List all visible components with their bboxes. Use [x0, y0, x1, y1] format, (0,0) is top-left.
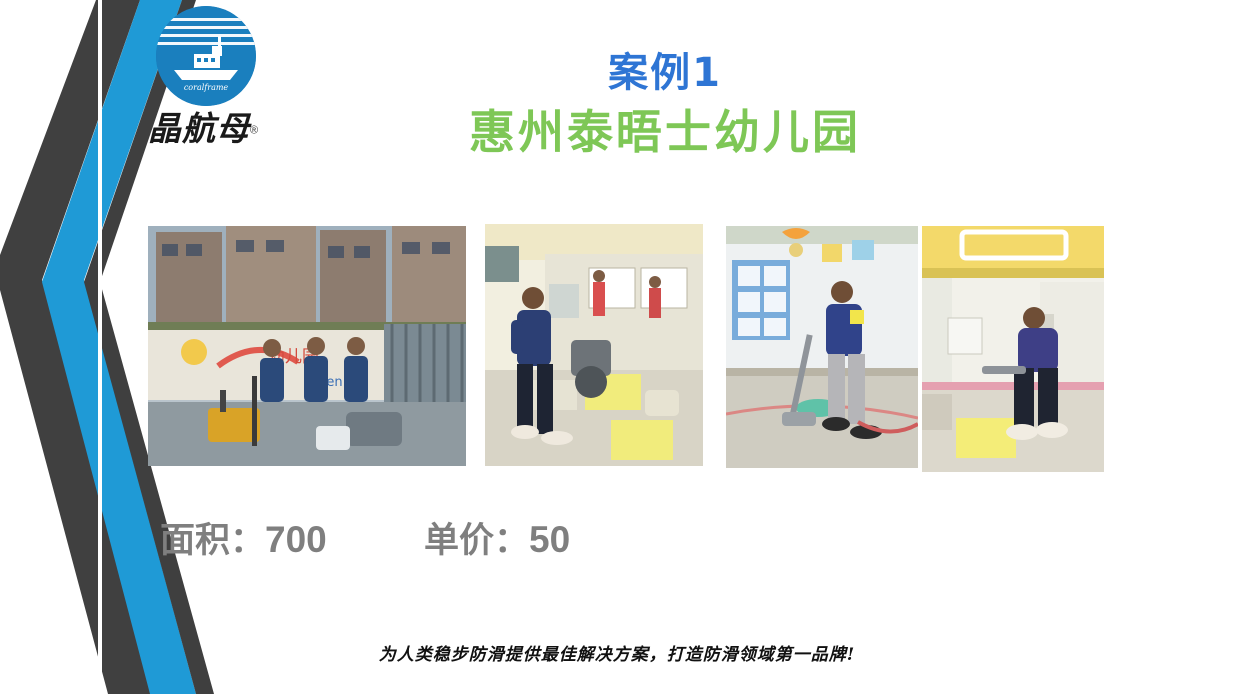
company-logo: coralframe 晶航母®	[148, 6, 284, 166]
figure-unit-price-label: 单价：	[424, 520, 529, 561]
figure-area-label: 面积：	[160, 520, 265, 561]
footer-slogan: 为人类稳步防滑提供最佳解决方案，打造防滑领域第一品牌!	[0, 640, 1234, 665]
slide-title-sub: 惠州泰晤士幼儿园	[370, 96, 960, 162]
figure-unit-price-value: 50	[529, 519, 570, 560]
logo-badge-text: coralframe	[184, 83, 229, 92]
slide-title-main: 案例1	[430, 40, 900, 98]
photo-bathroom-work	[922, 226, 1104, 472]
figure-area: 面积：700	[160, 512, 327, 563]
figures-row: 面积：700 单价：50	[160, 512, 860, 572]
slide-root: coralframe 晶航母® 案例1 惠州泰晤士幼儿园	[0, 0, 1234, 694]
logo-wordmark: 晶航母®	[148, 102, 284, 150]
logo-ship-badge-icon: coralframe	[156, 6, 256, 106]
photo-entrance-team: 幼儿园 arten	[148, 226, 466, 466]
photo-classroom-work	[726, 226, 918, 468]
logo-registered-mark: ®	[250, 125, 258, 137]
logo-brand-cn: 晶航母	[148, 102, 250, 150]
photo-corridor-work	[485, 224, 703, 466]
figure-unit-price: 单价：50	[424, 512, 570, 563]
figure-area-value: 700	[265, 519, 327, 560]
